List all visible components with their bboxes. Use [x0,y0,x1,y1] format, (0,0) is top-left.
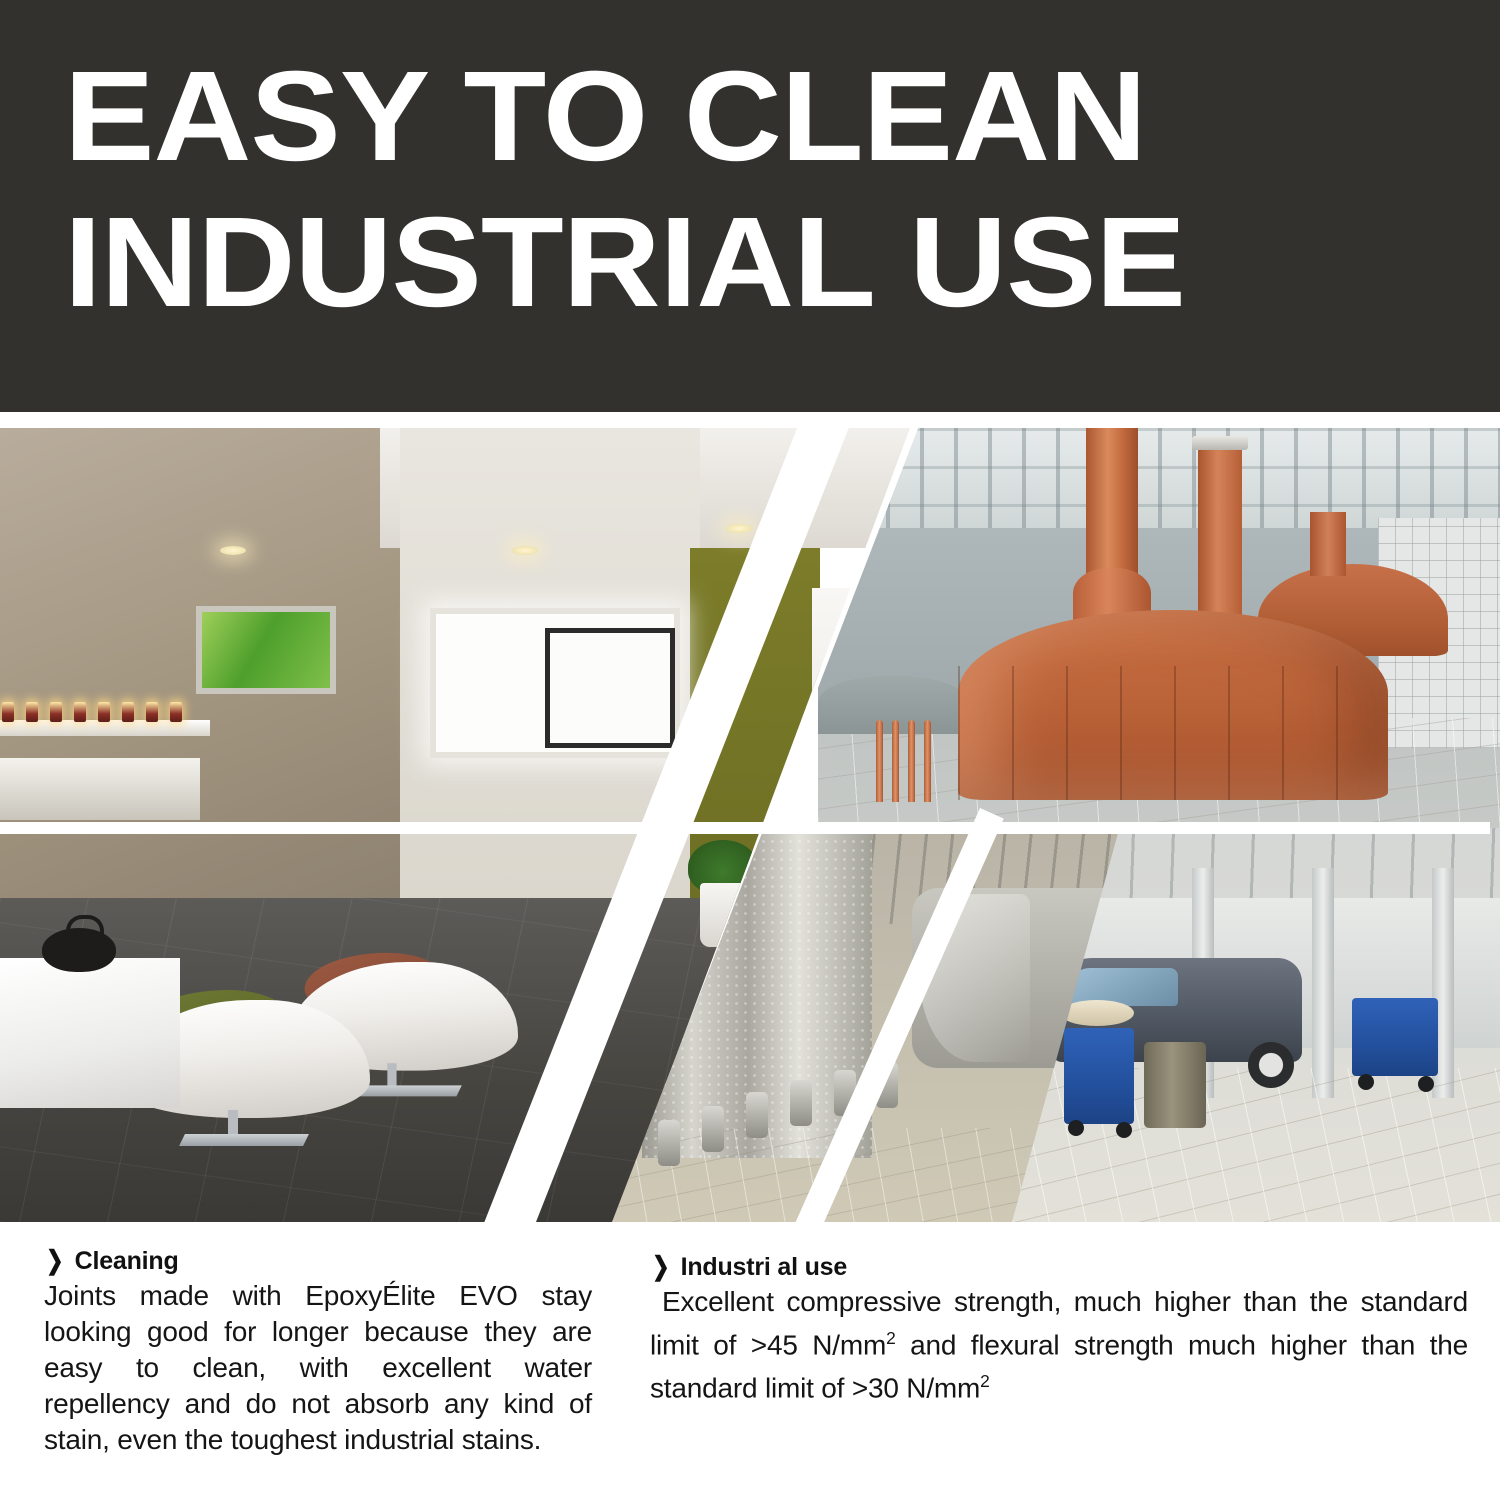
caption-cleaning-body: Joints made with EpoxyÉlite EVO stay loo… [44,1278,592,1458]
brewery-photo [818,428,1500,828]
brewery-chimney-stack [1086,428,1138,588]
caption-industrial-title: Industri al use [681,1251,847,1284]
cart-caster [1358,1074,1374,1090]
chevron-right-icon: ❯ [652,1250,669,1283]
brewery-copper-kettle [958,610,1388,800]
interior-framed-artwork [196,606,336,694]
car-wheel [1248,1042,1294,1088]
brochure-page: EASY TO CLEAN INDUSTRIAL USE [0,0,1500,1500]
cart-caster [1116,1122,1132,1138]
caption-cleaning: ❯ Cleaning Joints made with EpoxyÉlite E… [44,1244,592,1458]
interior-candle-row [0,700,196,724]
brewery-copper-pipes [876,716,986,802]
caption-area: ❯ Cleaning Joints made with EpoxyÉlite E… [0,1236,1500,1500]
caption-cleaning-title: Cleaning [75,1245,179,1278]
interior-ceiling-lamp [726,524,752,533]
chevron-right-icon: ❯ [46,1244,63,1277]
headline-line-1: EASY TO CLEAN [64,44,1500,190]
garage-waste-drum [1144,1042,1206,1128]
brewery-rear-stack [1310,512,1346,576]
interior-ceiling-lamp [512,546,538,555]
brewery-stack-cap [1192,436,1248,450]
winery-valve-row [658,1050,958,1170]
headline-block: EASY TO CLEAN INDUSTRIAL USE [64,44,1444,336]
headline-line-2: INDUSTRIAL USE [64,190,1500,336]
caption-industrial-heading: ❯ Industri al use [650,1250,1468,1284]
interior-ceiling-lamp [220,546,246,555]
chair-base [179,1134,309,1146]
interior-window-frame [545,628,675,748]
unit-superscript: 2 [886,1328,895,1348]
caption-industrial-use: ❯ Industri al use Excellent compressive … [650,1250,1468,1407]
caption-cleaning-heading: ❯ Cleaning [44,1244,592,1278]
header-banner: EASY TO CLEAN INDUSTRIAL USE [0,0,1500,412]
photo-collage [0,428,1500,1222]
caption-industrial-body: Excellent compressive strength, much hig… [650,1284,1468,1407]
interior-white-cube-table [0,958,180,1108]
cart-caster [1418,1076,1434,1092]
interior-teapot [42,928,116,972]
cart-caster [1068,1120,1084,1136]
brewery-chimney-stack [1198,444,1242,630]
garage-tool-cart [1352,998,1438,1076]
garage-column [1312,868,1334,1098]
interior-shelf-lower [0,758,200,820]
unit-superscript: 2 [980,1371,989,1391]
garage-tool-cart [1064,1028,1134,1124]
